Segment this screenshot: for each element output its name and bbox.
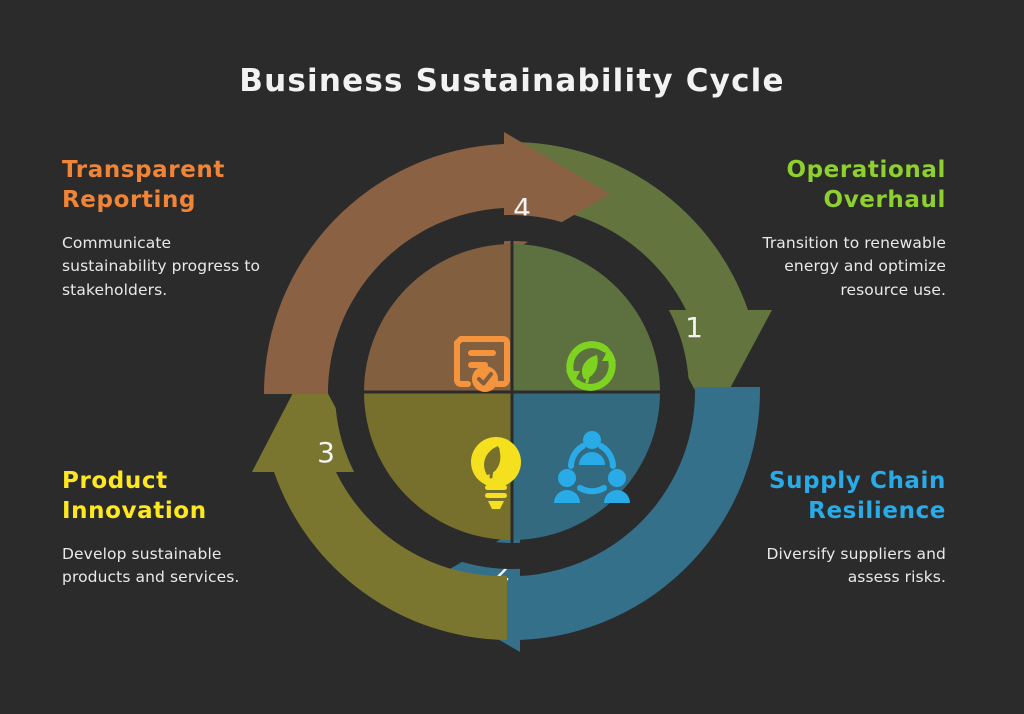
cycle-arrow-1-number: 1 <box>685 311 703 344</box>
page-title: Business Sustainability Cycle <box>0 63 1024 99</box>
infographic-canvas: Business Sustainability Cycle Transparen… <box>0 0 1024 714</box>
cycle-diagram: 1 2 3 4 <box>252 132 772 652</box>
info-block-transparent-reporting: Transparent Reporting Communicate sustai… <box>62 155 277 302</box>
info-heading-transparent-reporting: Transparent Reporting <box>62 155 277 216</box>
info-block-product-innovation: Product Innovation Develop sustainable p… <box>62 466 277 590</box>
info-heading-product-innovation: Product Innovation <box>62 466 277 527</box>
info-desc-product-innovation: Develop sustainable products and service… <box>62 543 277 590</box>
cycle-arrow-3-number: 3 <box>317 436 335 469</box>
info-desc-transparent-reporting: Communicate sustainability progress to s… <box>62 232 277 303</box>
